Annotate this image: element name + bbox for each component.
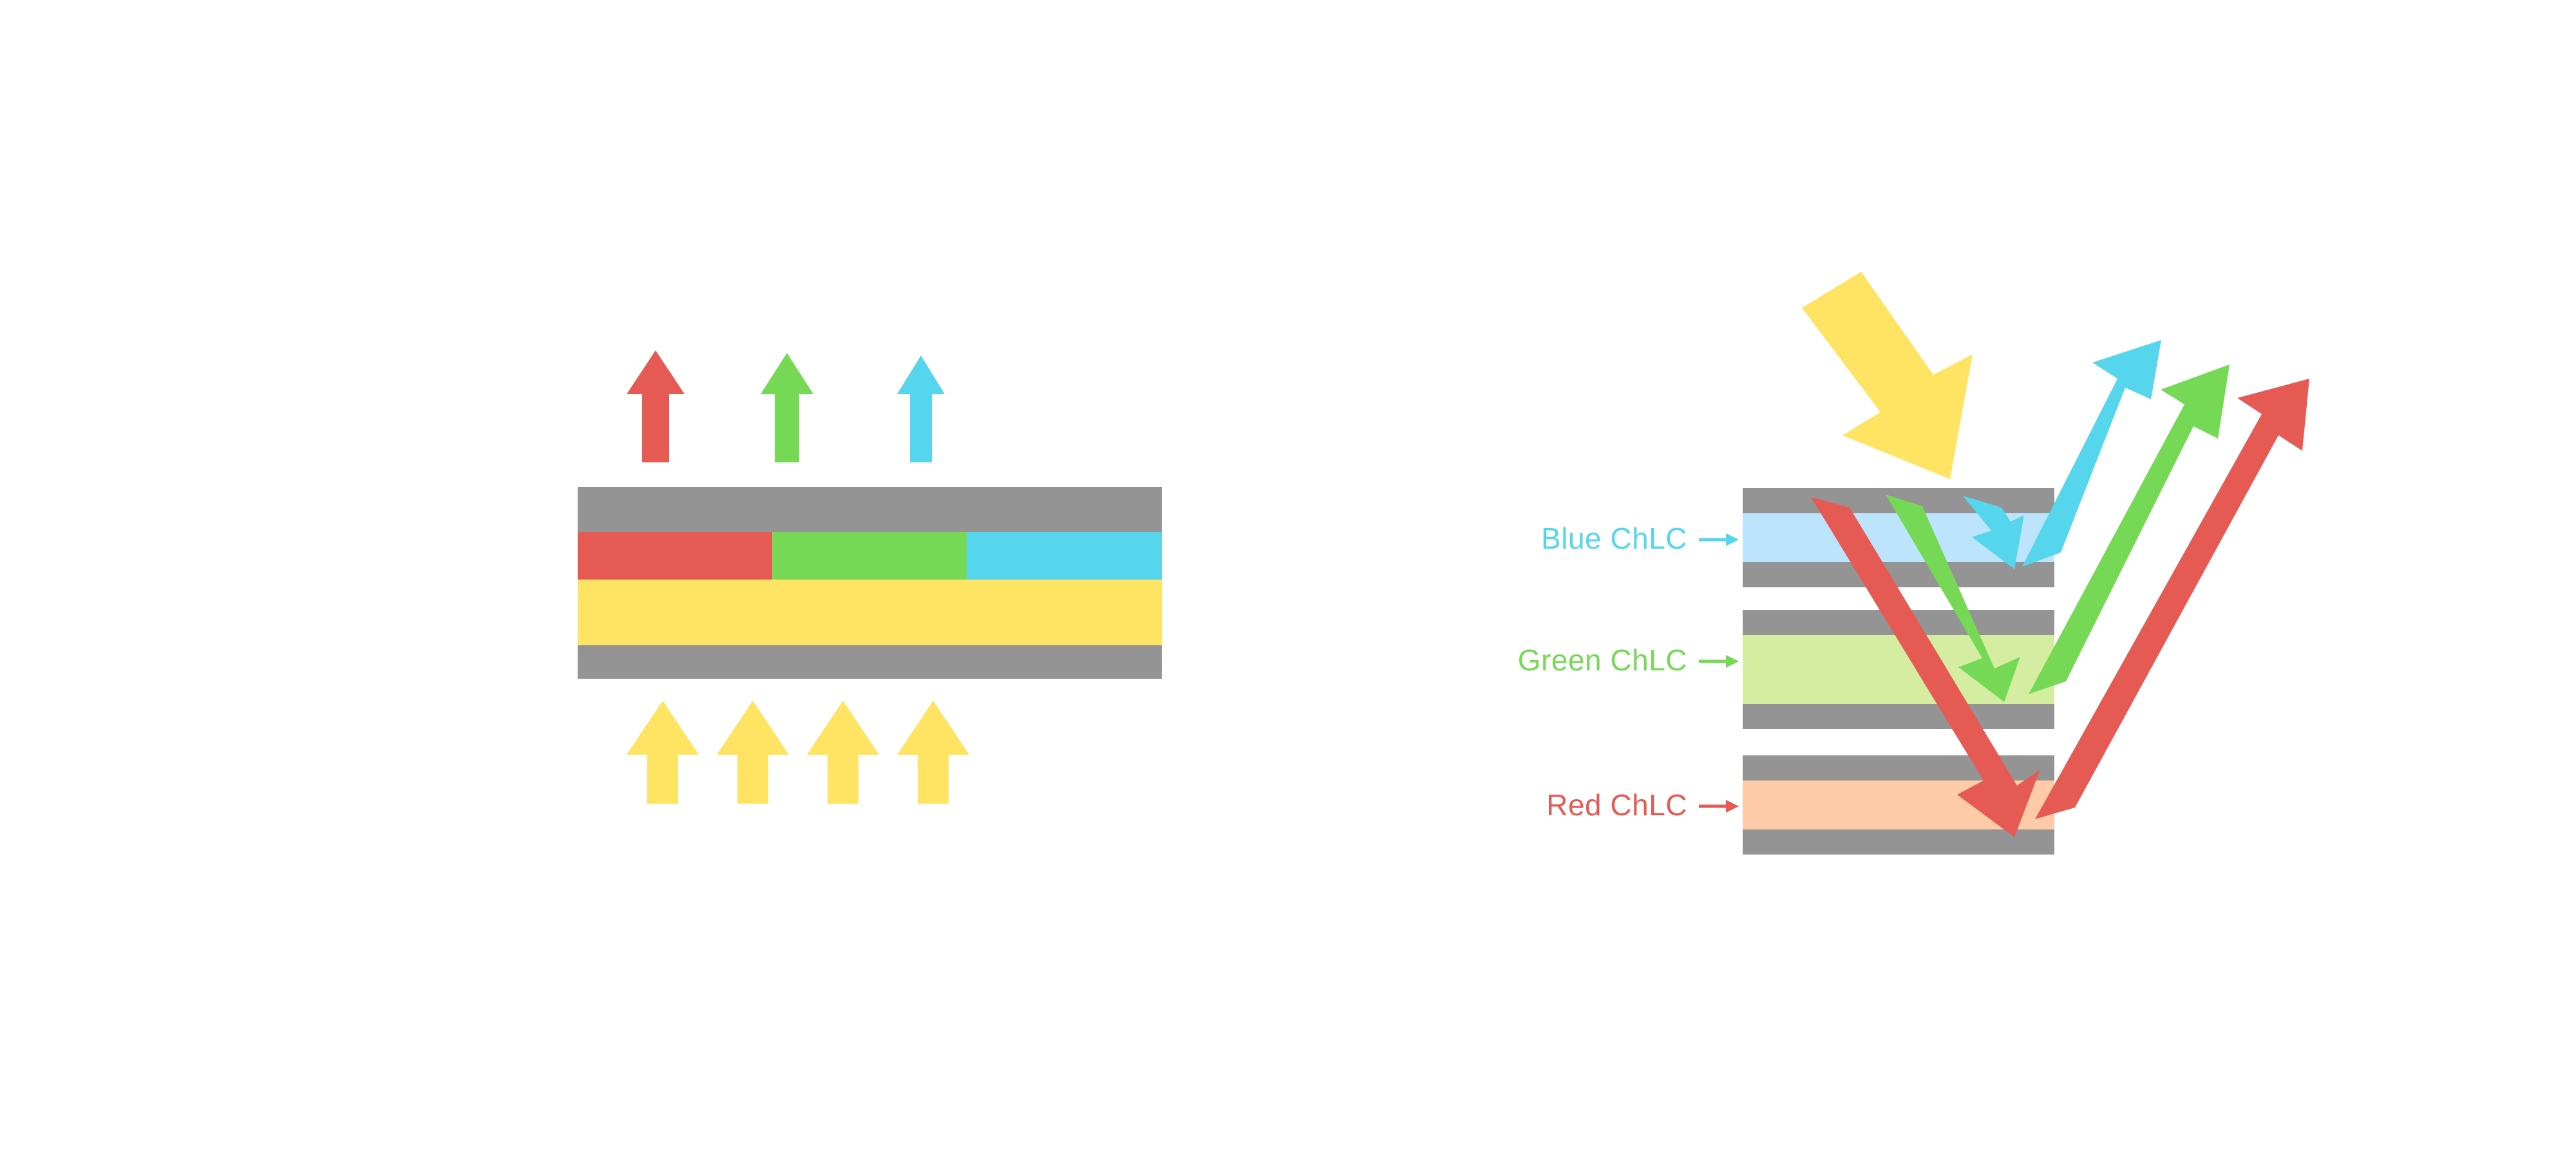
backlight-arrow bbox=[717, 701, 789, 804]
emissive-stack-svg bbox=[0, 0, 1288, 1154]
top-electrode-layer bbox=[578, 487, 1162, 532]
emissive-stack-panel bbox=[0, 0, 1288, 1154]
incident-white-light-arrow bbox=[1802, 272, 1973, 479]
green-emitted-arrow bbox=[761, 353, 813, 462]
blue-chlc-label: Blue ChLC bbox=[1541, 522, 1739, 555]
green-chlc-label-text: Green ChLC bbox=[1518, 643, 1687, 677]
blue-chlc-pointer-arrow-icon bbox=[1726, 533, 1739, 546]
red-chlc-label-text: Red ChLC bbox=[1546, 788, 1687, 822]
diagram-canvas: Blue ChLC Green ChLC Red ChLC bbox=[0, 0, 2576, 1154]
reflective-chlc-stack-panel: Blue ChLC Green ChLC Red ChLC bbox=[1288, 0, 2576, 1154]
backlight-arrow bbox=[807, 701, 879, 804]
blue-up-ray bbox=[2022, 340, 2161, 567]
red-chlc-label: Red ChLC bbox=[1546, 788, 1739, 822]
green-cell-bottom-electrode bbox=[1743, 704, 2054, 729]
blue-emitted-arrow bbox=[897, 355, 945, 462]
red-cell-bottom-electrode bbox=[1743, 829, 2054, 855]
backlight-arrows bbox=[627, 701, 969, 804]
backlight-layer bbox=[578, 580, 1162, 645]
green-chlc-pointer-arrow-icon bbox=[1726, 655, 1739, 668]
green-chlc-label: Green ChLC bbox=[1518, 643, 1739, 677]
backlight-arrow bbox=[897, 701, 969, 804]
backlight-arrow bbox=[627, 701, 699, 804]
red-emitted-arrow bbox=[627, 350, 685, 462]
green-filter-segment bbox=[772, 532, 967, 580]
bottom-electrode-layer bbox=[578, 645, 1162, 679]
blue-cell-bottom-electrode bbox=[1743, 562, 2054, 587]
blue-filter-segment bbox=[967, 532, 1162, 580]
reflective-chlc-stack-svg: Blue ChLC Green ChLC Red ChLC bbox=[1288, 0, 2576, 1154]
blue-chlc-label-text: Blue ChLC bbox=[1541, 522, 1687, 555]
red-filter-segment bbox=[578, 532, 772, 580]
red-chlc-pointer-arrow-icon bbox=[1726, 800, 1739, 813]
